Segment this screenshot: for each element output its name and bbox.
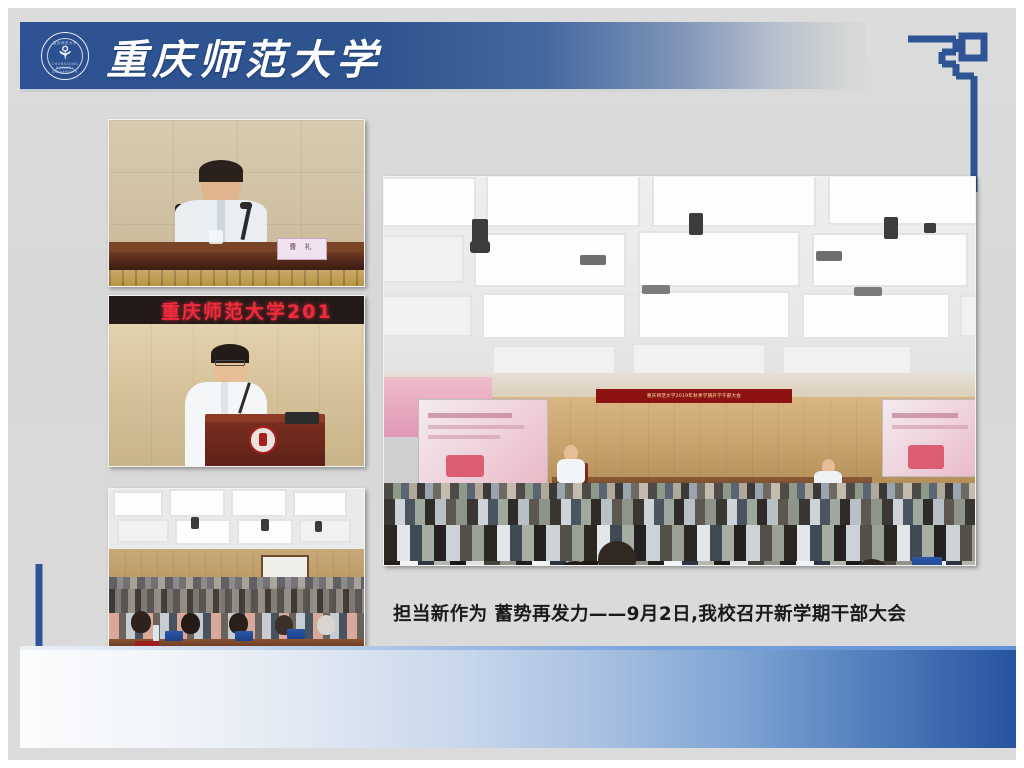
page-title: 重庆师范大学 (106, 31, 382, 81)
seal-ring-text-bottom: CHONGQING NORMAL UNIVERSITY (42, 62, 88, 74)
university-seal-logo: 重庆师范大学 ⚘ CHONGQING NORMAL UNIVERSITY (41, 32, 89, 80)
thumb1-nameplate-text: 曹 礼 (277, 242, 327, 252)
presentation-slide: 重庆师范大学 ⚘ CHONGQING NORMAL UNIVERSITY 重庆师… (0, 0, 1024, 768)
header-underline (20, 89, 866, 92)
seal-center-glyph: ⚘ (56, 45, 73, 64)
photo-speaker-at-table: 曹 礼 (108, 119, 365, 287)
thumb2-led-banner-text: 重庆师范大学201 (161, 297, 333, 324)
photo-conference-hall-main: 重庆师范大学2019年秋季学期开学干部大会 (383, 176, 976, 566)
photo-speaker-at-podium: 重庆师范大学201 (108, 295, 365, 467)
photo-audience-front-view (108, 488, 365, 658)
corner-bracket-ornament-top-right (908, 30, 988, 200)
main-photo-stage-banner: 重庆师范大学2019年秋季学期开学干部大会 (596, 389, 792, 403)
slide-caption: 担当新作为 蓄势再发力——9月2日,我校召开新学期干部大会 (393, 600, 973, 626)
footer-gradient-bar (20, 650, 1016, 748)
slide-surface: 重庆师范大学 ⚘ CHONGQING NORMAL UNIVERSITY 重庆师… (8, 8, 1016, 760)
